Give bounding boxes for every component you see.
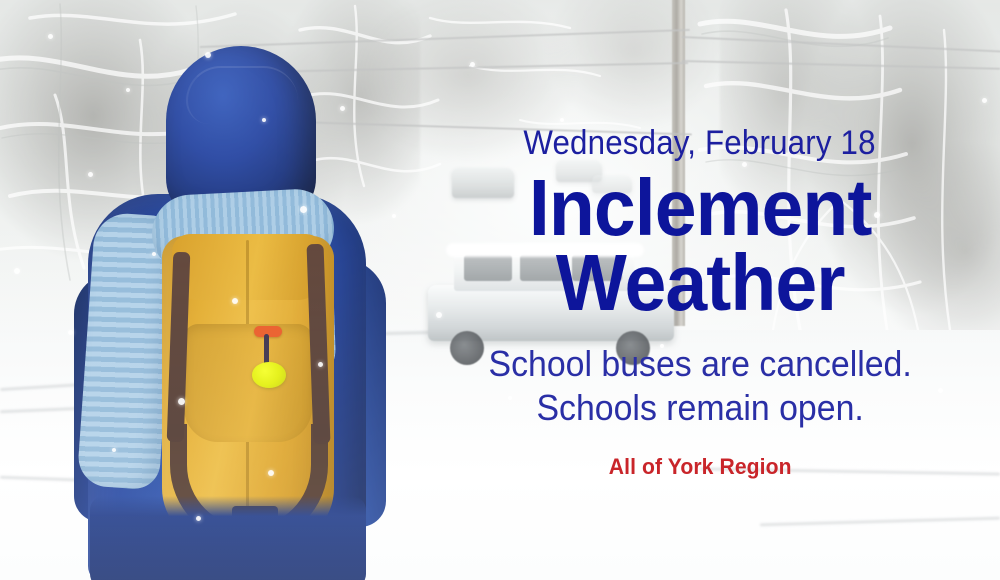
- yellow-reflector-tag: [252, 362, 286, 388]
- child-with-backpack: [60, 44, 400, 580]
- inclement-weather-banner: Wednesday, February 18 Inclement Weather…: [0, 0, 1000, 580]
- announcement-date: Wednesday, February 18: [524, 124, 876, 162]
- announcement-headline: Inclement Weather: [529, 170, 872, 320]
- hood-seam: [186, 66, 298, 124]
- announcement-message: School buses are cancelled. Schools rema…: [488, 342, 911, 430]
- affected-region-label: All of York Region: [609, 454, 792, 480]
- message-line-1: School buses are cancelled.: [488, 342, 911, 386]
- headline-line-1: Inclement: [529, 170, 872, 245]
- announcement-text-block: Wednesday, February 18 Inclement Weather…: [400, 0, 1000, 580]
- message-line-2: Schools remain open.: [488, 386, 911, 430]
- headline-line-2: Weather: [529, 245, 872, 320]
- coat-hem: [90, 496, 366, 580]
